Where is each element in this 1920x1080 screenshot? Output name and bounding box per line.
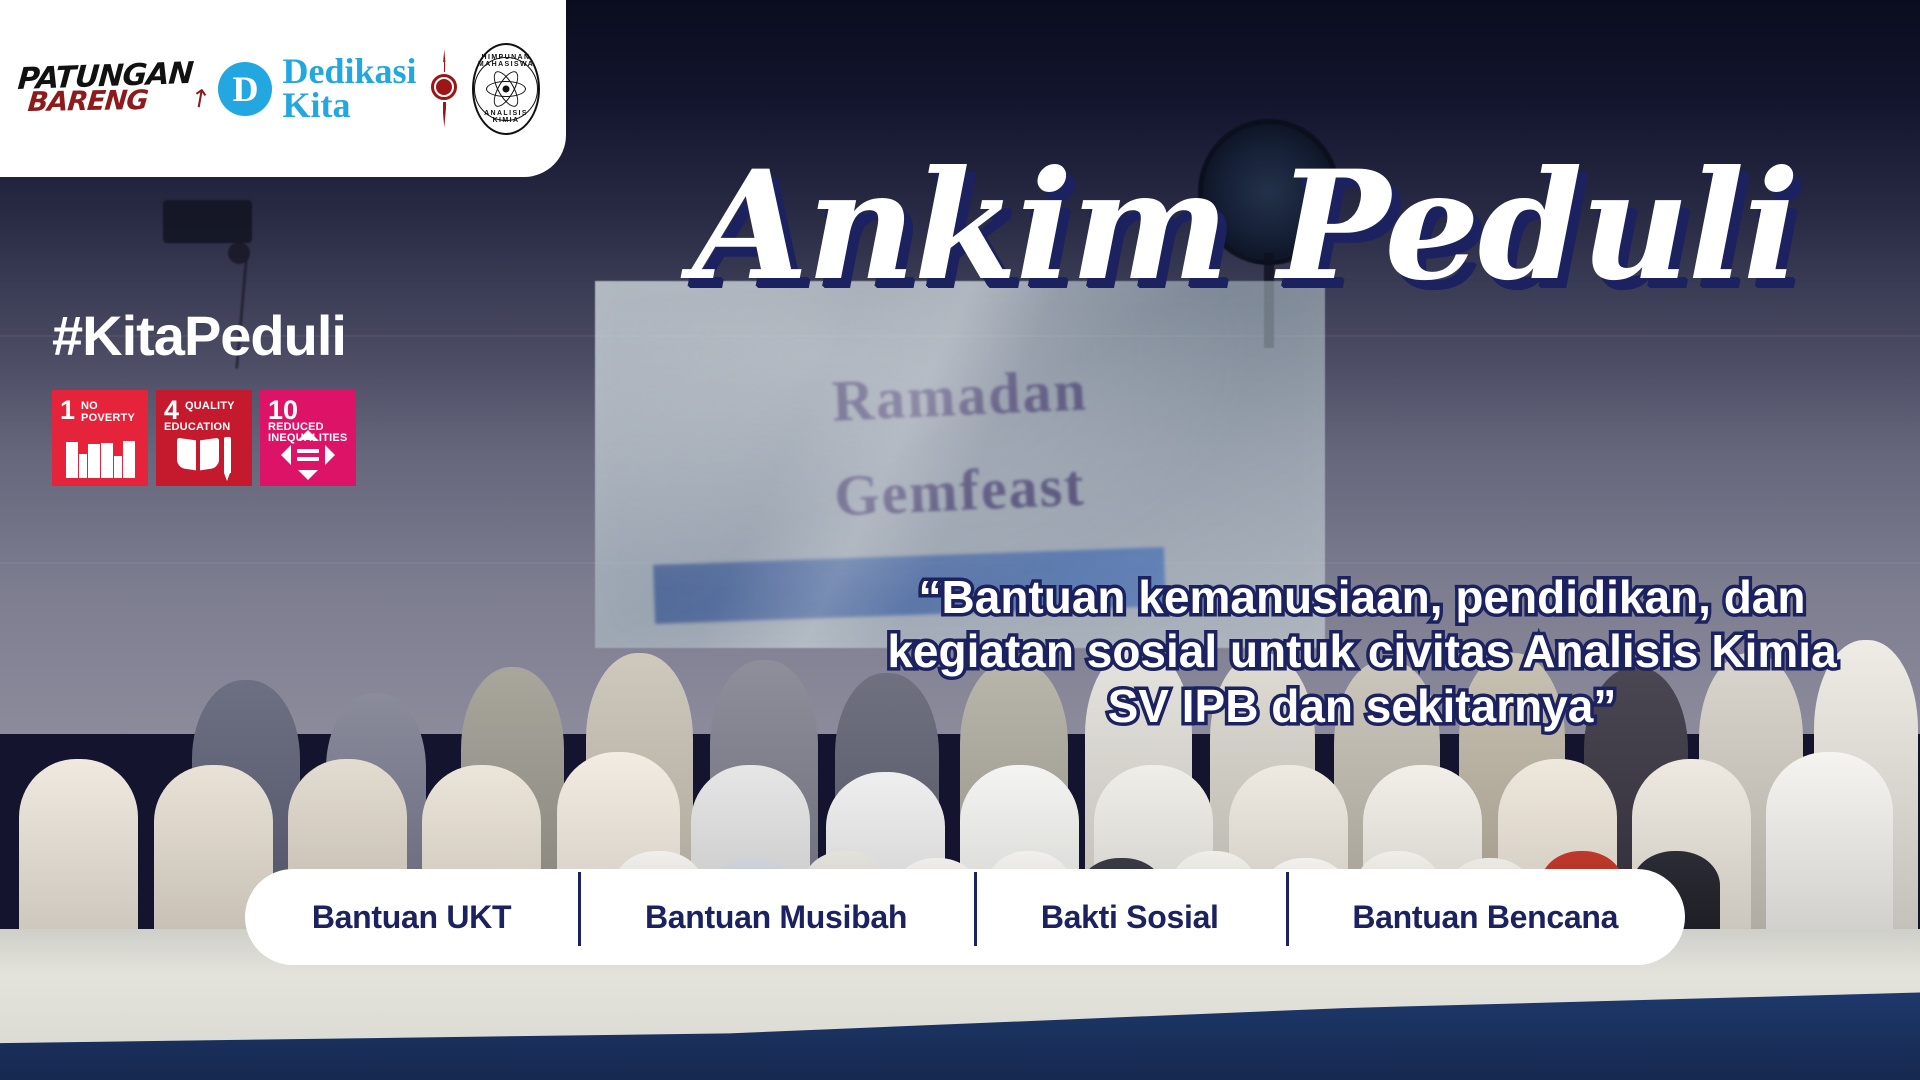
family-icon xyxy=(52,432,148,478)
program-item-bantuan-musibah[interactable]: Bantuan Musibah xyxy=(578,899,974,936)
program-item-bantuan-ukt[interactable]: Bantuan UKT xyxy=(245,899,578,936)
hashtag-label: #KitaPeduli xyxy=(52,303,346,368)
logo-dedikasi-kita: D Dedikasi Kita xyxy=(218,55,416,121)
logo-himpunan-seal: HIMPUNAN MAHASISWA ANALISIS KIMIA xyxy=(472,43,540,135)
logo-hmk-hexagon xyxy=(443,50,446,128)
sdg-badge-group: 1 NO POVERTY 4 QUALITY EDUCATION xyxy=(52,390,356,486)
atom-icon xyxy=(486,69,526,109)
program-item-bakti-sosial[interactable]: Bakti Sosial xyxy=(974,899,1286,936)
sdg-number: 1 xyxy=(60,399,75,422)
quote-line-2: kegiatan sosial untuk civitas Analisis K… xyxy=(852,624,1872,678)
dedikasi-line1: Dedikasi xyxy=(282,55,416,88)
hexagon-seal-icon xyxy=(429,72,459,102)
quote-line-3: SV IPB dan sekitarnya” xyxy=(852,679,1872,733)
mission-quote: “Bantuan kemanusiaan, pendidikan, dan ke… xyxy=(852,570,1872,733)
sdg-number: 4 xyxy=(164,399,179,422)
dedikasi-mark-icon: D xyxy=(218,62,272,116)
sdg-badge-reduced-inequalities: 10 REDUCED INEQUALITIES xyxy=(260,390,356,486)
dedikasi-line2: Kita xyxy=(282,89,416,122)
program-pill-bar: Bantuan UKT Bantuan Musibah Bakti Sosial… xyxy=(245,869,1685,965)
sdg-badge-no-poverty: 1 NO POVERTY xyxy=(52,390,148,486)
program-item-bantuan-bencana[interactable]: Bantuan Bencana xyxy=(1286,899,1686,936)
seal-top-text: HIMPUNAN MAHASISWA xyxy=(474,54,538,68)
patungan-line2: BARENG xyxy=(27,89,149,114)
equality-icon xyxy=(260,428,356,482)
wall-speaker xyxy=(163,200,251,243)
book-icon xyxy=(156,432,252,478)
poster-canvas: Ramadan Gemfeast xyxy=(0,0,1920,1080)
logo-patungan-bareng: PATUNGAN BARENG ↗ xyxy=(18,64,192,113)
sdg-number: 10 xyxy=(268,399,298,422)
quote-line-1: “Bantuan kemanusiaan, pendidikan, dan xyxy=(852,570,1872,624)
page-title: Ankim Peduli xyxy=(610,150,1880,303)
seal-bottom-text: ANALISIS KIMIA xyxy=(474,110,538,124)
sponsor-logo-card: PATUNGAN BARENG ↗ D Dedikasi Kita HIMPUN… xyxy=(0,0,566,177)
arrow-icon: ↗ xyxy=(185,83,214,113)
sdg-badge-quality-education: 4 QUALITY EDUCATION xyxy=(156,390,252,486)
